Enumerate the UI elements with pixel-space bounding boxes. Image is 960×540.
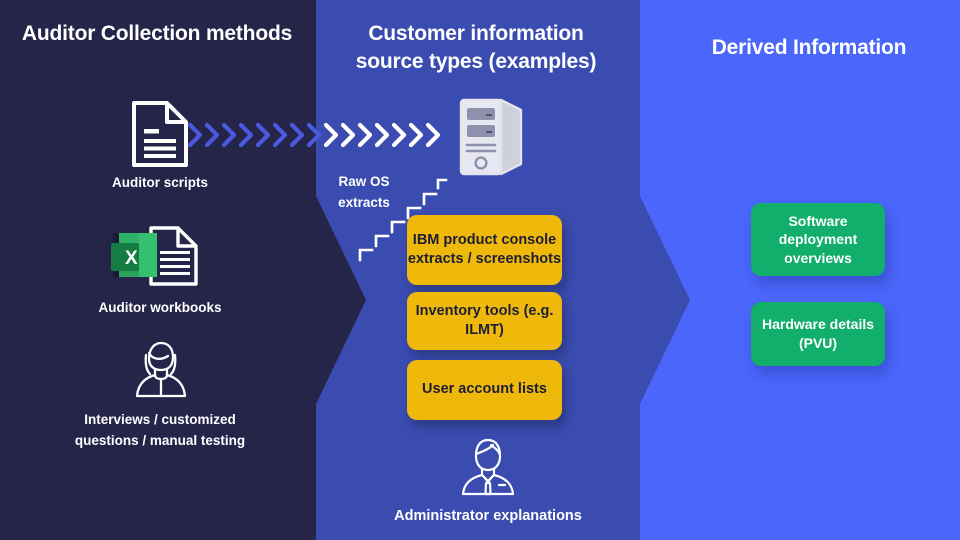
server-tower-icon <box>455 96 527 180</box>
source-card-label: User account lists <box>422 380 547 399</box>
derived-card-software-deployment-overviews[interactable]: Software deployment overviews <box>751 203 885 276</box>
source-card-ibm-product-console[interactable]: IBM product console extracts / screensho… <box>407 215 562 285</box>
svg-text:X: X <box>125 248 138 269</box>
derived-card-label: Hardware details (PVU) <box>751 315 885 352</box>
derived-card-hardware-details[interactable]: Hardware details (PVU) <box>751 302 885 366</box>
left-item-label-interviews: Interviews / customized questions / manu… <box>52 410 268 452</box>
derived-card-label: Software deployment overviews <box>751 212 885 268</box>
chevron-arrow-row <box>186 118 446 152</box>
excel-document-icon: X <box>108 225 200 287</box>
administrator-icon <box>455 435 519 497</box>
person-interview-icon <box>128 337 192 399</box>
source-card-label: IBM product console extracts / screensho… <box>407 231 562 270</box>
column-title-derived-information: Derived Information <box>668 34 950 62</box>
source-card-label: Inventory tools (e.g. ILMT) <box>407 302 562 341</box>
source-card-user-account-lists[interactable]: User account lists <box>407 360 562 420</box>
source-card-inventory-tools[interactable]: Inventory tools (e.g. ILMT) <box>407 292 562 350</box>
diagram-canvas: Auditor Collection methods Customer info… <box>0 0 960 540</box>
column-title-auditor-collection-methods: Auditor Collection methods <box>18 20 296 48</box>
left-item-label-auditor-workbooks: Auditor workbooks <box>60 298 260 319</box>
document-icon <box>131 100 189 168</box>
administrator-explanations-label: Administrator explanations <box>352 505 624 527</box>
column-title-customer-information-source-types: Customer information source types (examp… <box>340 20 612 76</box>
left-item-label-auditor-scripts: Auditor scripts <box>60 173 260 194</box>
